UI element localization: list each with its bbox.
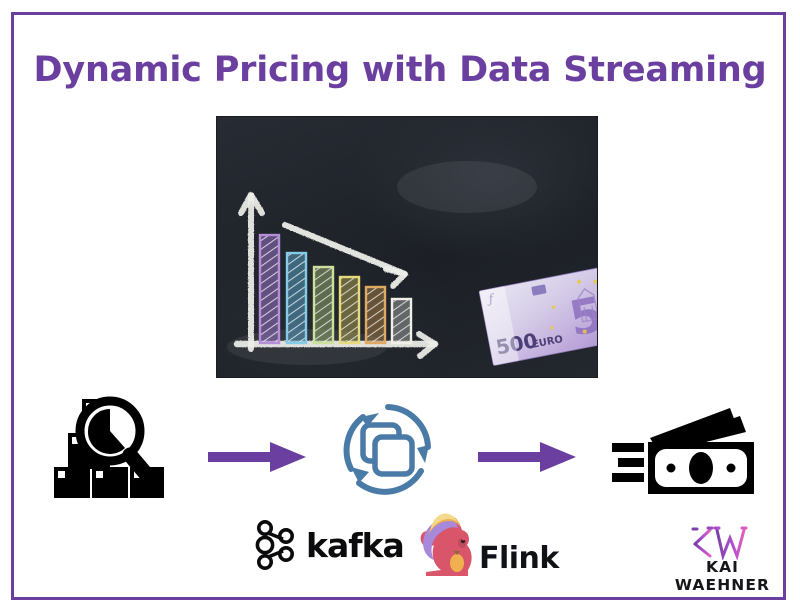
euro-banknote: ƒ 500 EURO 500 xyxy=(479,256,598,366)
flink-squirrel-icon xyxy=(413,512,485,578)
chalk-chart-drawing: ƒ 500 EURO 500 xyxy=(217,117,598,378)
kai-waehner-wordmark: KAI WAEHNER xyxy=(660,558,785,594)
cash-money-icon xyxy=(612,400,762,505)
slide-canvas: Dynamic Pricing with Data Streaming xyxy=(0,0,800,612)
chart-bar-3 xyxy=(314,267,333,343)
data-streaming-sync-icon xyxy=(333,395,443,510)
flow-arrow-1 xyxy=(208,440,308,479)
chart-bar-1 xyxy=(260,235,279,343)
chart-bar-5 xyxy=(366,287,385,343)
logo-kai-waehner: KAI WAEHNER xyxy=(660,524,785,594)
money-motion-lines xyxy=(612,443,644,482)
chart-bars xyxy=(260,235,411,343)
main-bill xyxy=(648,442,754,494)
chart-bar-6 xyxy=(392,299,411,343)
chart-bar-4 xyxy=(340,277,359,343)
flow-arrow-2 xyxy=(478,440,578,479)
kw-monogram-icon xyxy=(689,524,757,560)
kafka-wordmark: kafka xyxy=(306,526,404,565)
logo-kafka: kafka xyxy=(255,519,404,571)
chart-bar-2 xyxy=(287,253,306,343)
stacked-documents-icon xyxy=(363,425,412,474)
kafka-mark-icon xyxy=(255,519,299,571)
flink-wordmark: Flink xyxy=(479,541,559,576)
logo-flink: Flink xyxy=(413,512,559,578)
chalkboard-image: ƒ 500 EURO 500 xyxy=(216,116,598,378)
inventory-analytics-icon xyxy=(52,393,172,506)
page-title: Dynamic Pricing with Data Streaming xyxy=(0,50,800,90)
